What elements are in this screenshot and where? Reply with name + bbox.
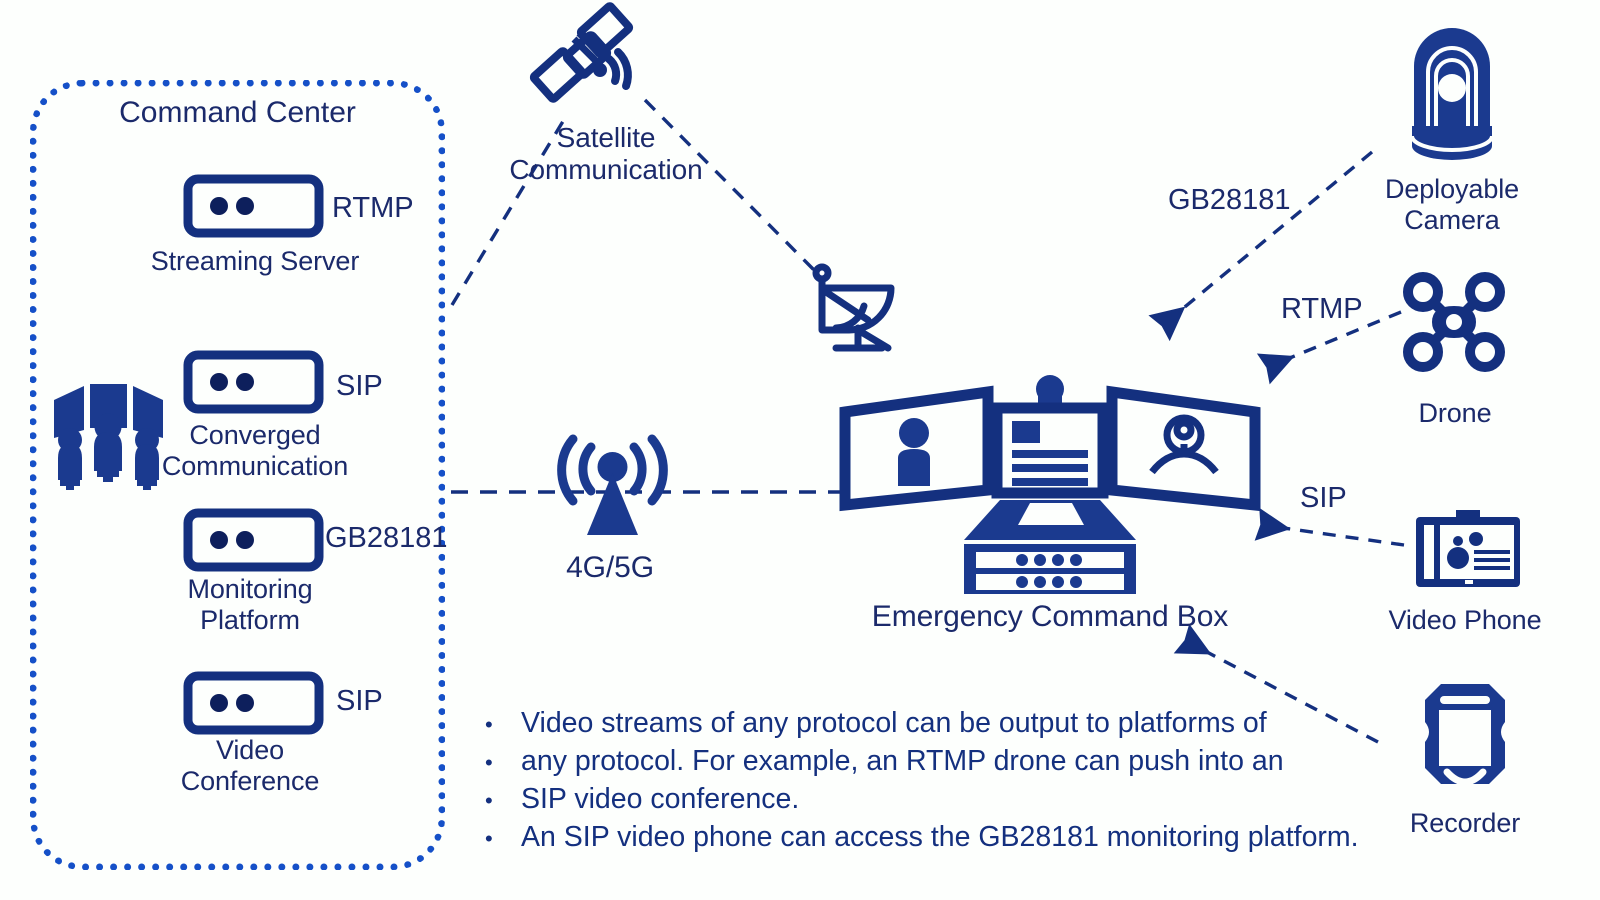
recorder-icon[interactable] bbox=[1419, 684, 1511, 802]
server-icon[interactable] bbox=[185, 352, 322, 412]
notes-bullet-list: • Video streams of any protocol can be o… bbox=[485, 705, 1365, 857]
list-item: • any protocol. For example, an RTMP dro… bbox=[485, 743, 1365, 781]
node-label-video-conference: Video Conference bbox=[55, 735, 445, 798]
protocol-label-sip-videophone: SIP bbox=[1300, 482, 1347, 515]
satellite-icon[interactable] bbox=[530, 8, 650, 126]
link-videophone-commandbox bbox=[1262, 525, 1404, 545]
list-item-text: An SIP video phone can access the GB2818… bbox=[521, 819, 1359, 856]
list-item-text: SIP video conference. bbox=[521, 781, 799, 818]
list-item: • Video streams of any protocol can be o… bbox=[485, 705, 1365, 743]
device-label-drone: Drone bbox=[1330, 398, 1580, 429]
list-item: • An SIP video phone can access the GB28… bbox=[485, 819, 1365, 857]
bullet-glyph: • bbox=[485, 782, 521, 819]
protocol-label-gb28181-monitoring: GB28181 bbox=[325, 522, 448, 555]
server-icon[interactable] bbox=[185, 673, 322, 733]
drone-icon[interactable] bbox=[1402, 272, 1506, 372]
diagram-canvas: Command Center RTMP Streaming Server SIP bbox=[0, 0, 1600, 900]
device-label-deployable-camera: Deployable Camera bbox=[1322, 174, 1582, 237]
device-label-video-phone: Video Phone bbox=[1340, 605, 1590, 636]
cell-tower-icon[interactable] bbox=[560, 435, 665, 540]
protocol-label-rtmp-streaming: RTMP bbox=[332, 192, 414, 225]
ptz-camera-icon[interactable] bbox=[1398, 52, 1506, 160]
protocol-label-rtmp-drone: RTMP bbox=[1281, 293, 1363, 326]
node-label-streaming-server: Streaming Server bbox=[60, 246, 450, 277]
list-item: • SIP video conference. bbox=[485, 781, 1365, 819]
satellite-dish-icon[interactable] bbox=[806, 258, 906, 358]
protocol-label-gb28181-camera: GB28181 bbox=[1168, 184, 1291, 217]
bullet-glyph: • bbox=[485, 744, 521, 781]
command-center-title: Command Center bbox=[30, 96, 445, 130]
device-label-recorder: Recorder bbox=[1340, 808, 1590, 839]
cellular-label: 4G/5G bbox=[500, 551, 720, 586]
list-item-text: any protocol. For example, an RTMP drone… bbox=[521, 743, 1284, 780]
command-box-icon[interactable] bbox=[840, 378, 1260, 596]
protocol-label-sip-videoconference: SIP bbox=[336, 685, 383, 718]
server-icon[interactable] bbox=[185, 176, 322, 236]
server-icon[interactable] bbox=[185, 510, 322, 570]
satellite-label: Satellite Communication bbox=[450, 122, 762, 187]
node-label-converged-communication: Converged Communication bbox=[60, 420, 450, 483]
video-phone-icon[interactable] bbox=[1414, 510, 1522, 588]
list-item-text: Video streams of any protocol can be out… bbox=[521, 705, 1267, 742]
bullet-glyph: • bbox=[485, 706, 521, 743]
protocol-label-sip-converged: SIP bbox=[336, 370, 383, 403]
bullet-glyph: • bbox=[485, 820, 521, 857]
command-box-label: Emergency Command Box bbox=[810, 600, 1290, 635]
node-label-monitoring-platform: Monitoring Platform bbox=[55, 574, 445, 637]
